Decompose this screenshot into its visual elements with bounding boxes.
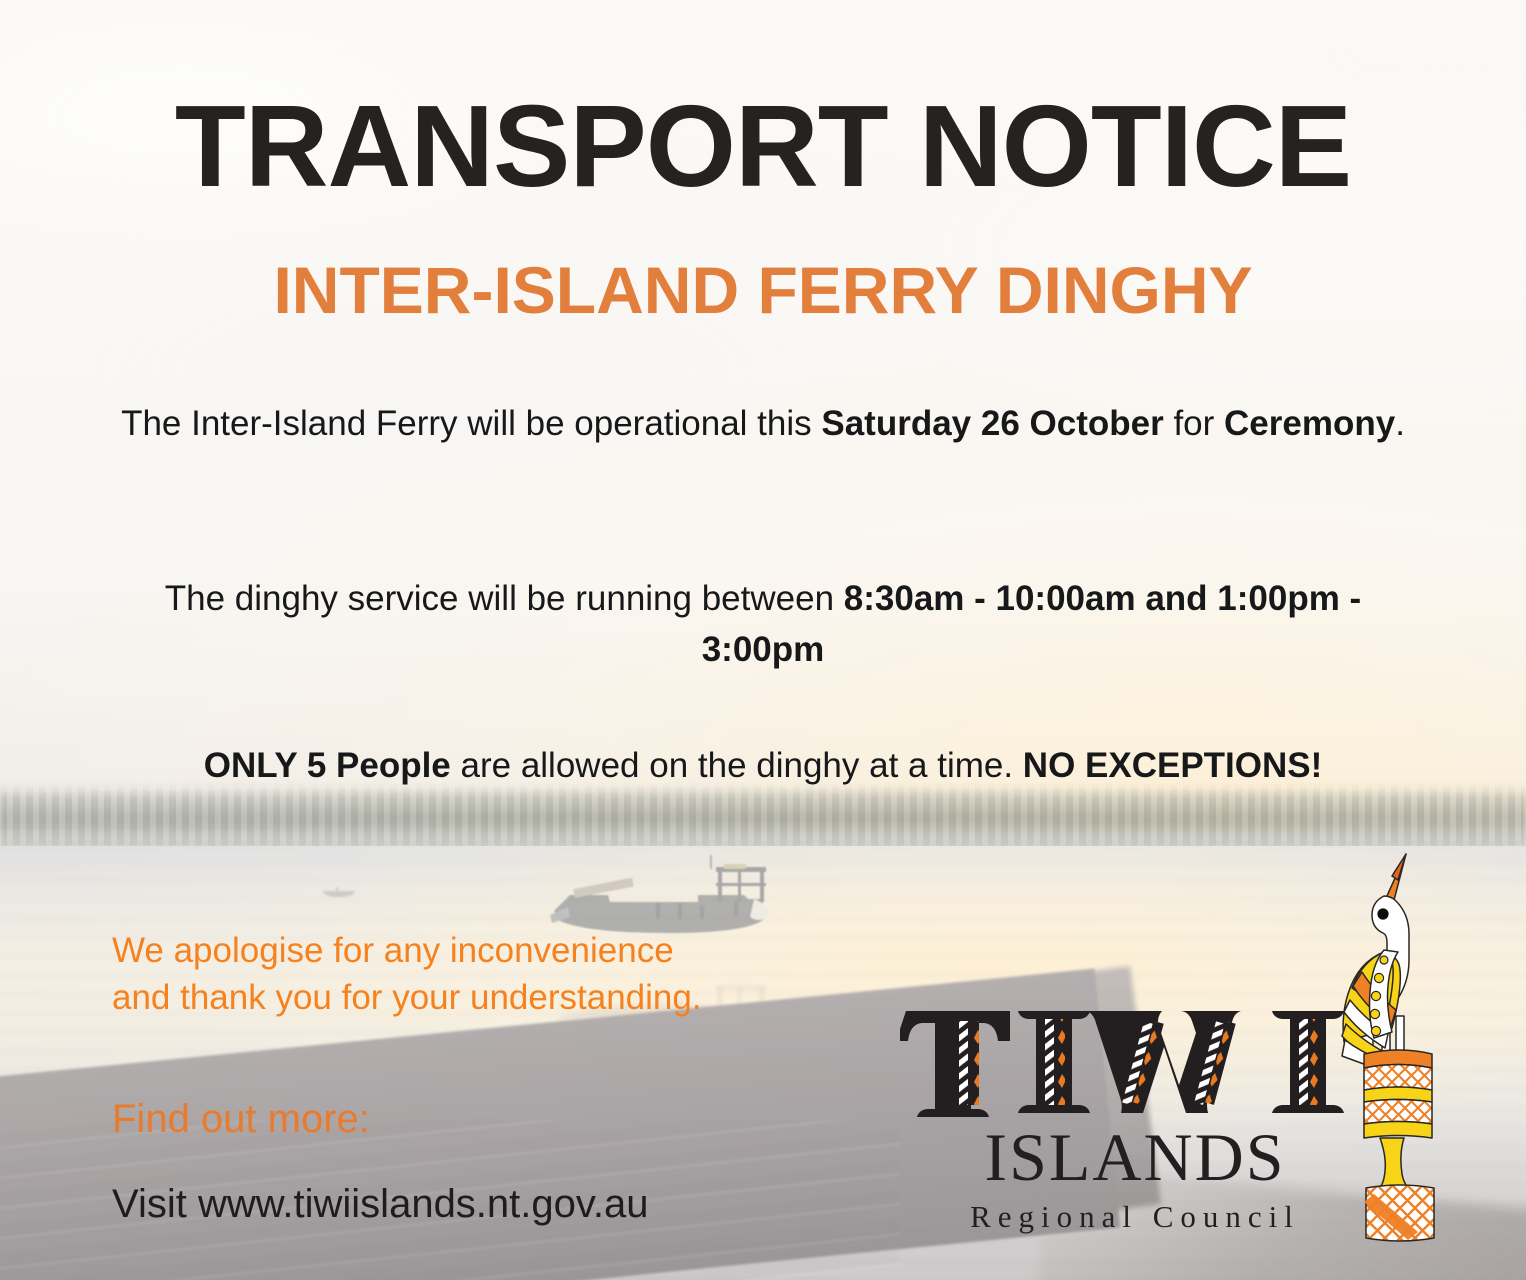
find-out-more-heading: Find out more:	[112, 1097, 370, 1142]
logo-tiwi-wordmark	[900, 1011, 1344, 1117]
p3-noexceptions-bold: NO EXCEPTIONS!	[1023, 746, 1322, 785]
tiwi-islands-regional-council-logo: ISLANDS Regional Council	[900, 1005, 1370, 1240]
p1-text-2: for	[1164, 404, 1224, 443]
paragraph-ferry-operational: The Inter-Island Ferry will be operation…	[115, 398, 1411, 449]
website-link[interactable]: Visit www.tiwiislands.nt.gov.au	[112, 1182, 649, 1227]
p3-limit-bold: ONLY 5 People	[204, 746, 451, 785]
p2-text-1: The dinghy service will be running betwe…	[165, 579, 844, 618]
page-subtitle: INTER-ISLAND FERRY DINGHY	[0, 256, 1526, 325]
p1-text-1: The Inter-Island Ferry will be operation…	[121, 404, 821, 443]
transport-notice-poster: TRANSPORT NOTICE INTER-ISLAND FERRY DING…	[0, 0, 1526, 1280]
paragraph-capacity-limit: ONLY 5 People are allowed on the dinghy …	[115, 740, 1411, 791]
p1-ceremony-bold: Ceremony	[1224, 404, 1395, 443]
apology-line-1: We apologise for any inconvenience	[112, 928, 892, 975]
paragraph-dinghy-times: The dinghy service will be running betwe…	[115, 573, 1411, 676]
apology-line-2: and thank you for your understanding.	[112, 975, 892, 1022]
p1-date-bold: Saturday 26 October	[821, 404, 1163, 443]
p3-text-1: are allowed on the dinghy at a time.	[451, 746, 1023, 785]
logo-regional-council-text: Regional Council	[970, 1199, 1300, 1234]
tiwi-totem-bird-icon	[1340, 848, 1460, 1248]
logo-islands-text: ISLANDS	[984, 1119, 1285, 1195]
apology-message: We apologise for any inconvenience and t…	[112, 928, 892, 1022]
p1-text-3: .	[1395, 404, 1405, 443]
page-title: TRANSPORT NOTICE	[0, 86, 1526, 208]
